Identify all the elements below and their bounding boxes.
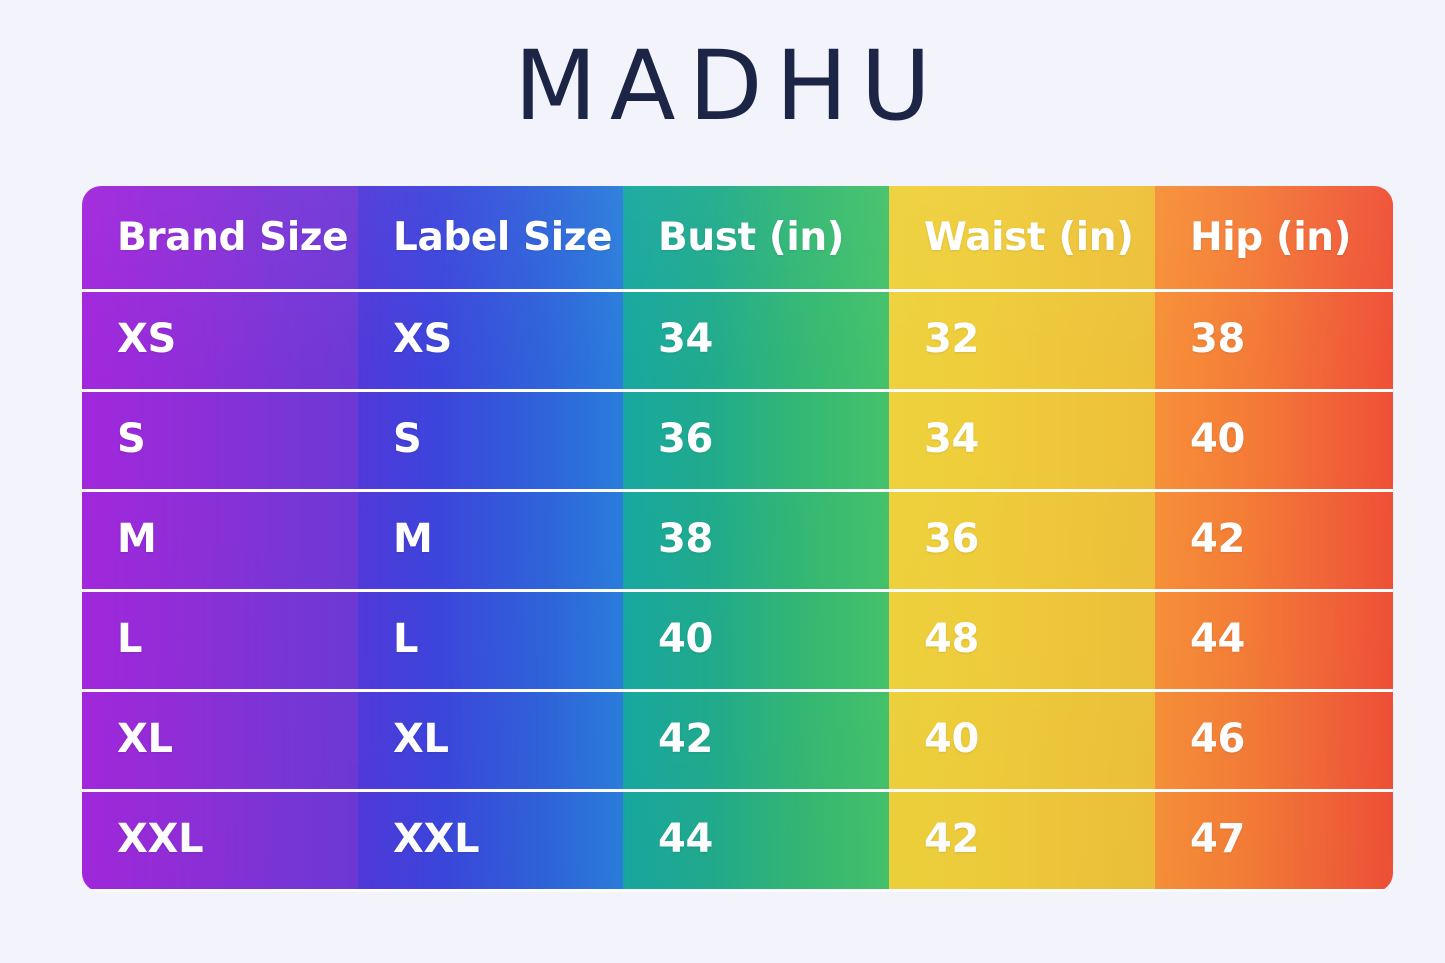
table-header-row: Brand Size Label Size Bust (in) Waist (i…: [82, 186, 1393, 289]
cell-label-size: L: [358, 589, 623, 689]
cell-label-size: M: [358, 489, 623, 589]
size-chart-table: Brand Size Label Size Bust (in) Waist (i…: [82, 186, 1393, 892]
table-row: S S 36 34 40: [82, 389, 1393, 489]
column-header-label-size: Label Size: [358, 186, 623, 289]
cell-brand-size: XL: [82, 689, 358, 789]
cell-brand-size: XXL: [82, 789, 358, 889]
cell-waist: 40: [889, 689, 1155, 789]
cell-waist: 42: [889, 789, 1155, 889]
cell-label-size: XXL: [358, 789, 623, 889]
table-row: L L 40 48 44: [82, 589, 1393, 689]
cell-hip: 44: [1155, 589, 1393, 689]
cell-waist: 32: [889, 289, 1155, 389]
column-header-hip: Hip (in): [1155, 186, 1393, 289]
cell-bust: 42: [623, 689, 889, 789]
cell-label-size: XS: [358, 289, 623, 389]
cell-brand-size: L: [82, 589, 358, 689]
cell-hip: 47: [1155, 789, 1393, 889]
cell-waist: 34: [889, 389, 1155, 489]
cell-bust: 40: [623, 589, 889, 689]
cell-hip: 46: [1155, 689, 1393, 789]
cell-brand-size: S: [82, 389, 358, 489]
table-row: XXL XXL 44 42 47: [82, 789, 1393, 889]
table-row: M M 38 36 42: [82, 489, 1393, 589]
column-header-brand-size: Brand Size: [82, 186, 358, 289]
cell-brand-size: XS: [82, 289, 358, 389]
cell-bust: 38: [623, 489, 889, 589]
size-chart-page: MADHU Brand Size Label Size Bust (in) Wa…: [0, 0, 1445, 963]
column-header-bust: Bust (in): [623, 186, 889, 289]
cell-label-size: S: [358, 389, 623, 489]
cell-bust: 34: [623, 289, 889, 389]
cell-label-size: XL: [358, 689, 623, 789]
table-row: XS XS 34 32 38: [82, 289, 1393, 389]
cell-hip: 42: [1155, 489, 1393, 589]
cell-waist: 36: [889, 489, 1155, 589]
table-row: XL XL 42 40 46: [82, 689, 1393, 789]
cell-waist: 48: [889, 589, 1155, 689]
cell-hip: 38: [1155, 289, 1393, 389]
column-header-waist: Waist (in): [889, 186, 1155, 289]
cell-hip: 40: [1155, 389, 1393, 489]
page-title: MADHU: [0, 34, 1445, 140]
cell-brand-size: M: [82, 489, 358, 589]
cell-bust: 44: [623, 789, 889, 889]
cell-bust: 36: [623, 389, 889, 489]
